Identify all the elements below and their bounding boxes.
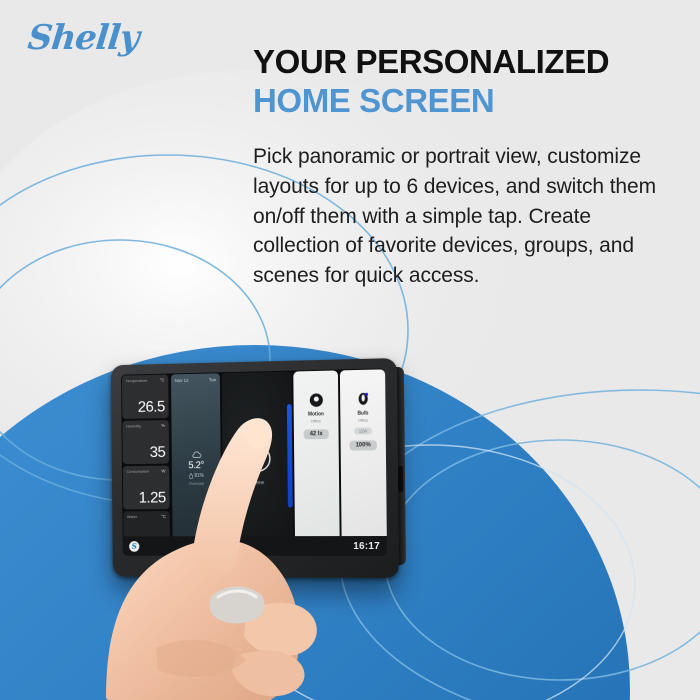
shelly-logo: Shelly	[26, 18, 141, 58]
pointing-hand	[96, 398, 426, 700]
fingertip	[245, 419, 269, 449]
headline-line-2: HOME SCREEN	[253, 83, 683, 120]
thermometer-icon: °C	[160, 378, 165, 383]
body-paragraph: Pick panoramic or portrait view, customi…	[253, 142, 683, 291]
headline-line-1: YOUR PERSONALIZED	[253, 44, 683, 81]
tile-label: Temperature	[126, 378, 148, 383]
copy-block: YOUR PERSONALIZED HOME SCREEN Pick panor…	[253, 44, 683, 291]
